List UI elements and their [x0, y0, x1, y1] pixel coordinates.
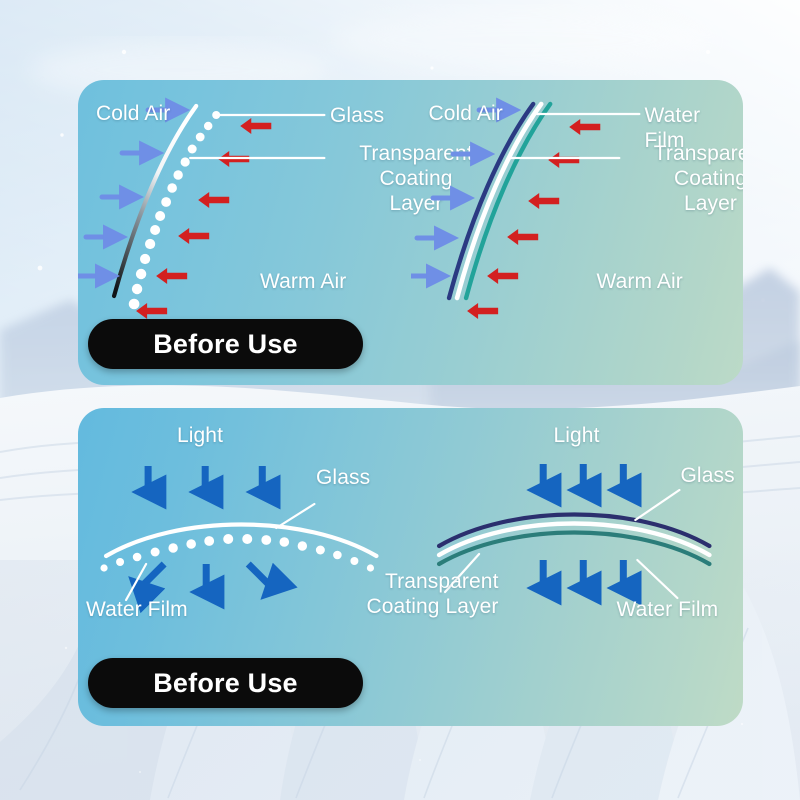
panel-anti-fog-comparison: Cold Air Glass Transparent Coating Layer… [78, 80, 743, 385]
warm-air-arrows [467, 119, 600, 319]
button-before-use-bottom[interactable]: Before Use [88, 658, 363, 708]
button-before-use-top[interactable]: Before Use [88, 319, 363, 369]
transmitted-light-arrows [543, 560, 623, 588]
label-cold-air: Cold Air [429, 102, 503, 127]
half-bottom-left-before: Light Glass Water Film Before Use [78, 408, 411, 726]
scattered-light-arrows [140, 564, 272, 592]
label-transparent-coating-layer: Transparent Coating Layer [654, 142, 743, 216]
half-top-right-after: Cold Air Water Film Transparent Coating … [411, 80, 744, 385]
label-cold-air: Cold Air [96, 102, 170, 127]
incoming-light-arrows [543, 464, 623, 490]
half-bottom-right-after: Light Glass Water Film Transparent Coati… [411, 408, 744, 726]
label-water-film: Water Film [86, 598, 188, 623]
label-glass: Glass [330, 104, 384, 129]
label-transparent-coating-layer: Transparent Coating Layer [366, 570, 498, 620]
panel-light-transmission-comparison: Light Glass Water Film Before Use [78, 408, 743, 726]
label-glass: Glass [316, 466, 370, 491]
leader-lines [190, 115, 324, 158]
incoming-light-arrows [148, 466, 262, 492]
diagram-light-after [411, 408, 744, 726]
glass-curve [114, 106, 196, 296]
label-light: Light [553, 424, 599, 449]
label-glass: Glass [681, 464, 735, 489]
label-warm-air: Warm Air [260, 270, 346, 295]
label-light: Light [177, 424, 223, 449]
label-water-film: Water Film [617, 598, 719, 623]
half-top-left-before: Cold Air Glass Transparent Coating Layer… [78, 80, 411, 385]
label-warm-air: Warm Air [597, 270, 683, 295]
glass-arc [439, 515, 709, 547]
